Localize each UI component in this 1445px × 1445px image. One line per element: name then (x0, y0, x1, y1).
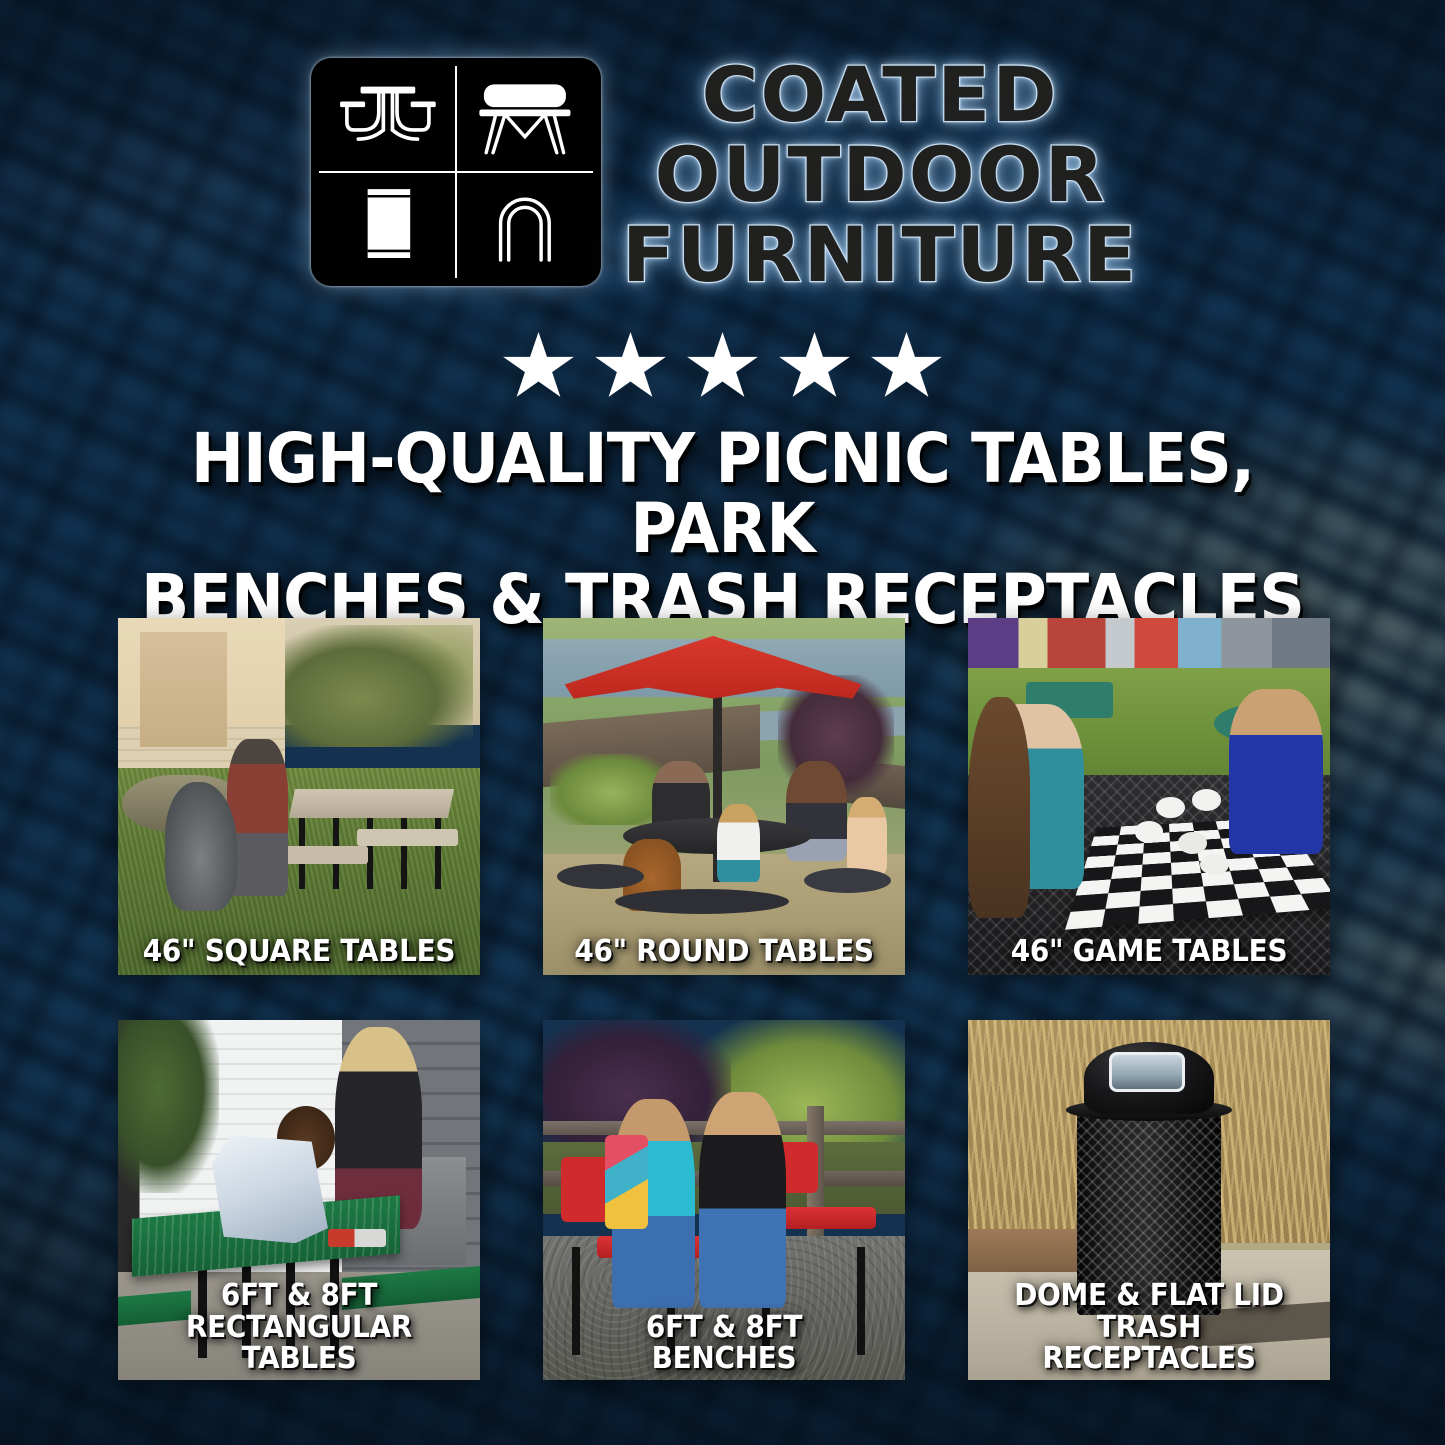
product-tile-rectangular-tables[interactable]: 6FT & 8FT RECTANGULAR TABLES (118, 1020, 480, 1380)
product-grid: 46" SQUARE TABLES (118, 618, 1330, 1380)
product-tile-game-tables[interactable]: 46" GAME TABLES (968, 618, 1330, 975)
caption-line-1: 6FT & 8FT (646, 1310, 802, 1345)
logo-icon-grid (319, 66, 593, 278)
star-icon-3 (687, 332, 759, 402)
brand-logo-mark (311, 58, 601, 286)
brand-name-line-1: COATED (702, 60, 1059, 130)
product-caption-square-tables: 46" SQUARE TABLES (131, 936, 468, 967)
product-caption-benches: 6FT & 8FT BENCHES (556, 1312, 893, 1374)
star-icon-2 (595, 332, 667, 402)
product-photo-round-tables (543, 618, 905, 975)
product-caption-round-tables: 46" ROUND TABLES (556, 936, 893, 967)
caption-line-2: BENCHES (561, 1343, 887, 1374)
headline: HIGH-QUALITY PICNIC TABLES, PARK BENCHES… (58, 424, 1387, 635)
star-rating (0, 332, 1445, 402)
promotional-poster: COATED OUTDOOR FURNITURE HIGH-QUALITY PI… (0, 0, 1445, 1445)
product-caption-trash-receptacles: DOME & FLAT LID TRASH RECEPTACLES (981, 1280, 1318, 1374)
product-photo-game-tables (968, 618, 1330, 975)
caption-line-1: 6FT & 8FT (221, 1278, 377, 1313)
caption-line-1: 46" SQUARE TABLES (143, 934, 455, 969)
caption-line-2: RECTANGULAR TABLES (136, 1312, 462, 1374)
product-tile-trash-receptacles[interactable]: DOME & FLAT LID TRASH RECEPTACLES (968, 1020, 1330, 1380)
trash-receptacle-icon (319, 172, 456, 278)
poster-content: COATED OUTDOOR FURNITURE HIGH-QUALITY PI… (0, 0, 1445, 1445)
bench-icon (456, 66, 593, 172)
brand-wordmark: COATED OUTDOOR FURNITURE (627, 58, 1133, 290)
product-photo-square-tables (118, 618, 480, 975)
caption-line-1: 46" GAME TABLES (1011, 934, 1288, 969)
product-caption-game-tables: 46" GAME TABLES (981, 936, 1318, 967)
caption-line-2: TRASH RECEPTACLES (986, 1312, 1312, 1374)
caption-line-1: 46" ROUND TABLES (574, 934, 873, 969)
bike-rack-arch-icon (456, 172, 593, 278)
product-tile-benches[interactable]: 6FT & 8FT BENCHES (543, 1020, 905, 1380)
product-tile-round-tables[interactable]: 46" ROUND TABLES (543, 618, 905, 975)
star-icon-4 (779, 332, 851, 402)
brand-name-line-2: OUTDOOR (655, 140, 1107, 210)
brand-name-line-3: FURNITURE (622, 220, 1138, 290)
product-caption-rectangular-tables: 6FT & 8FT RECTANGULAR TABLES (131, 1280, 468, 1374)
caption-line-1: DOME & FLAT LID (1014, 1278, 1284, 1313)
star-icon-1 (503, 332, 575, 402)
picnic-table-icon (319, 66, 456, 172)
headline-line-1: HIGH-QUALITY PICNIC TABLES, PARK (191, 419, 1254, 569)
brand-header: COATED OUTDOOR FURNITURE (0, 58, 1445, 290)
product-tile-square-tables[interactable]: 46" SQUARE TABLES (118, 618, 480, 975)
star-icon-5 (871, 332, 943, 402)
